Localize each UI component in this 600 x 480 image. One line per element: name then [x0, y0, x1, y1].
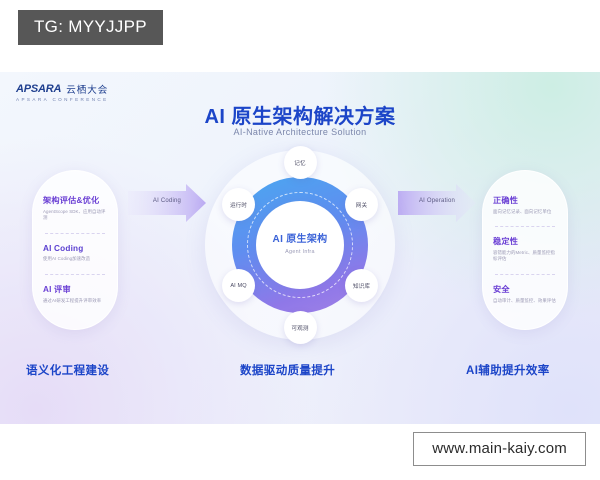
right-card-item-heading: 稳定性: [493, 237, 557, 247]
left-flow-arrow-label: AI Coding: [128, 198, 206, 204]
left-card-item-heading: 架构评估&优化: [43, 196, 107, 206]
right-card-item: 正确性 面向记忆记录、面向记忆单位: [493, 196, 557, 215]
left-card-item: 架构评估&优化 AgentScope SDK、应用自动评测: [43, 196, 107, 222]
left-card-item: AI Coding 使用AI Coding加速改造: [43, 244, 107, 263]
ring-node-knowledge-base[interactable]: 知识库: [345, 269, 378, 302]
right-card-item-desc: 面向记忆记录、面向记忆单位: [493, 209, 557, 215]
left-card-item-heading: AI 评审: [43, 285, 107, 295]
site-watermark: www.main-kaiy.com: [413, 432, 586, 466]
right-flow-arrow: AI Operation: [398, 184, 476, 222]
ring-node-ai-mq[interactable]: AI MQ: [222, 269, 255, 302]
left-card-item: AI 评审 通过AI研发工程提升评审效率: [43, 285, 107, 304]
telegram-overlay-tag: TG: MYYJJPP: [18, 10, 163, 45]
right-capability-card: 正确性 面向记忆记录、面向记忆单位 稳定性 容错能力的Metric、质量监控指标…: [482, 170, 568, 330]
caption-right: AI辅助提升效率: [466, 362, 550, 378]
ring-node-memory[interactable]: 记忆: [284, 146, 317, 179]
page-title: AI 原生架构解决方案: [0, 100, 600, 129]
ring-node-observability[interactable]: 可观测: [284, 311, 317, 344]
left-capability-card: 架构评估&优化 AgentScope SDK、应用自动评测 AI Coding …: [32, 170, 118, 330]
logo-brand-cn: 云栖大会: [66, 86, 108, 96]
page-subtitle: AI-Native Architecture Solution: [0, 127, 600, 137]
caption-left: 语义化工程建设: [26, 362, 109, 378]
right-card-item-desc: 容错能力的Metric、质量监控指标评估: [493, 250, 557, 263]
right-flow-arrow-label: AI Operation: [398, 198, 476, 204]
left-card-item-desc: 通过AI研发工程提升评审效率: [43, 298, 107, 304]
ring-core-title: AI 原生架构: [273, 235, 328, 245]
slide-canvas: APSARA 云栖大会 APSARA CONFERENCE AI 原生架构解决方…: [0, 72, 600, 424]
logo-brand-en: APSARA: [16, 84, 61, 95]
right-card-item-heading: 安全: [493, 285, 557, 295]
left-flow-arrow: AI Coding: [128, 184, 206, 222]
ring-core: AI 原生架构 Agent Infra: [256, 201, 344, 289]
architecture-ring-diagram: AI 原生架构 Agent Infra 记忆 网关 知识库 可观测 AI MQ …: [205, 150, 395, 340]
left-card-item-desc: AgentScope SDK、应用自动评测: [43, 209, 107, 222]
ring-core-subtitle: Agent Infra: [285, 249, 315, 255]
right-card-item-heading: 正确性: [493, 196, 557, 206]
right-card-item-desc: 自动审计、质量监控、效果评估: [493, 298, 557, 304]
left-card-item-heading: AI Coding: [43, 244, 107, 254]
logo-row: APSARA 云栖大会: [16, 84, 109, 95]
ring-node-gateway[interactable]: 网关: [345, 188, 378, 221]
caption-center: 数据驱动质量提升: [240, 362, 335, 378]
right-card-item: 安全 自动审计、质量监控、效果评估: [493, 285, 557, 304]
right-card-item: 稳定性 容错能力的Metric、质量监控指标评估: [493, 237, 557, 263]
ring-node-runtime[interactable]: 运行时: [222, 188, 255, 221]
left-card-item-desc: 使用AI Coding加速改造: [43, 256, 107, 262]
